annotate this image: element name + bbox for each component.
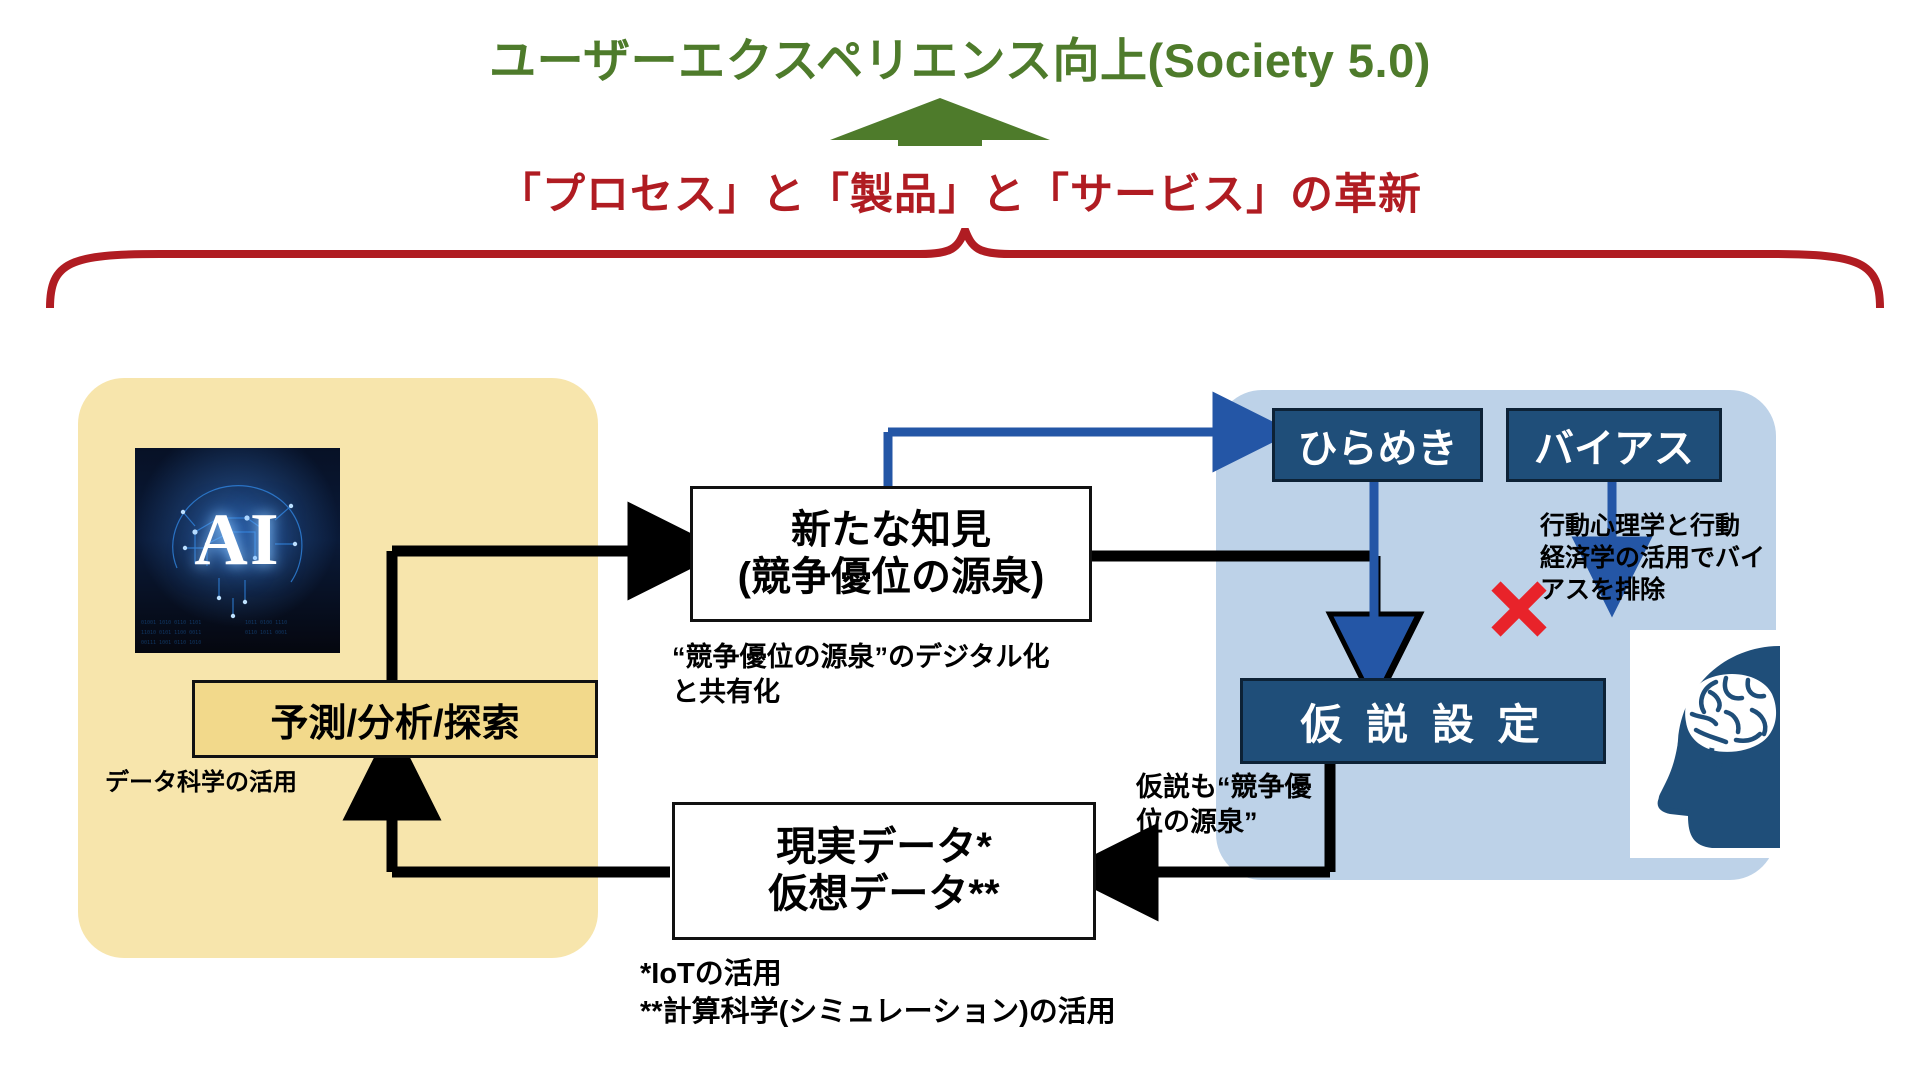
real-data-line: 現実データ* [776,824,992,871]
footnote-simulation: **計算科学(シミュレーション)の活用 [640,993,1400,1031]
subtitle-red: 「プロセス」と「製品」と「サービス」の革新 [0,160,1920,222]
ai-image-label: AI [135,498,340,583]
insight-box[interactable]: ひらめき [1272,408,1483,482]
hypothesis-source-line2: 位の源泉” [1136,805,1386,840]
hypothesis-source-line1: 仮説も“競争優 [1136,770,1386,805]
svg-text:1011 0100 1110: 1011 0100 1110 [245,620,287,626]
insight-label: ひらめき [1298,416,1458,474]
bias-removal-line3: アスを排除 [1540,574,1790,606]
svg-text:01001 1010 0110 1101: 01001 1010 0110 1101 [141,620,201,626]
new-knowledge-line1: 新たな知見 [791,507,991,554]
hypothesis-setting-label: 仮 説 設 定 [1300,691,1545,752]
bias-removal-line2: 経済学の活用でバイ [1540,542,1790,574]
bias-removal-line1: 行動心理学と行動 [1540,510,1790,542]
hypothesis-setting-box[interactable]: 仮 説 設 定 [1240,678,1606,764]
diagram-canvas: ユーザーエクスペリエンス向上(Society 5.0) 「プロセス」と「製品」と… [0,0,1920,1079]
svg-text:0110 1011 0001: 0110 1011 0001 [245,630,287,636]
ai-brain-image: 01001 1010 0110 1101 11010 0101 1100 001… [135,448,340,653]
data-science-caption: データ科学の活用 [105,762,297,797]
digitalization-caption: “競争優位の源泉”のデジタル化 と共有化 [672,640,1102,710]
digitalization-caption-line1: “競争優位の源泉”のデジタル化 [672,640,1102,675]
red-brace-icon [40,228,1890,308]
new-knowledge-box[interactable]: 新たな知見 (競争優位の源泉) [690,486,1092,622]
predict-analyze-explore-box[interactable]: 予測/分析/探索 [192,680,598,758]
bias-label: バイアス [1534,416,1694,474]
green-up-arrow-icon [830,98,1050,146]
svg-text:00111 1001 0110 1010: 00111 1001 0110 1010 [141,640,201,646]
page-title-green: ユーザーエクスペリエンス向上(Society 5.0) [0,22,1920,91]
footnote-iot: *IoTの活用 [640,955,1400,993]
footnotes-caption: *IoTの活用 **計算科学(シミュレーション)の活用 [640,955,1400,1032]
bias-box[interactable]: バイアス [1506,408,1722,482]
human-head-brain-image [1630,630,1830,858]
digitalization-caption-line2: と共有化 [672,675,1102,710]
predict-analyze-explore-label: 予測/分析/探索 [270,692,519,747]
hypothesis-source-caption: 仮説も“競争優 位の源泉” [1136,770,1386,839]
bias-removal-caption: 行動心理学と行動 経済学の活用でバイ アスを排除 [1540,510,1790,606]
new-knowledge-line2: (競争優位の源泉) [738,554,1045,601]
virtual-data-line: 仮想データ** [768,871,999,918]
real-virtual-data-box[interactable]: 現実データ* 仮想データ** [672,802,1096,940]
svg-text:11010 0101 1100 0011: 11010 0101 1100 0011 [141,630,201,636]
